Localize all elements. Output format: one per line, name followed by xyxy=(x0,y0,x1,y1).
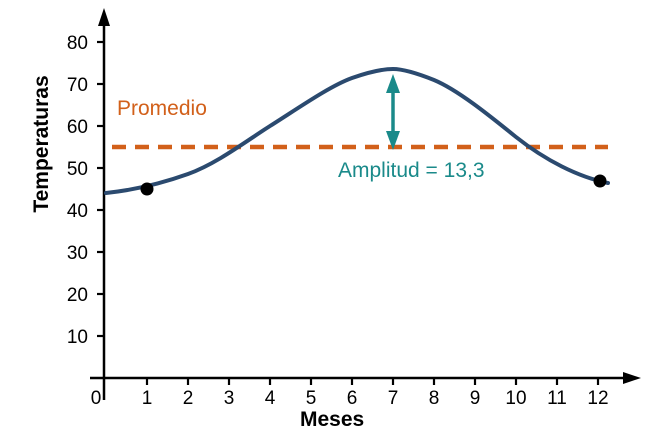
x-tick-label: 4 xyxy=(265,388,276,409)
y-tick-label: 40 xyxy=(67,201,88,222)
x-tick-label-origin: 0 xyxy=(91,388,102,409)
y-tick-label: 60 xyxy=(67,117,88,138)
x-tick-label: 9 xyxy=(470,388,481,409)
x-tick-label: 5 xyxy=(306,388,317,409)
x-tick-label: 2 xyxy=(183,388,194,409)
x-tick-label: 6 xyxy=(347,388,358,409)
chart-container: 10 20 30 40 50 60 70 80 0 1 xyxy=(0,0,650,442)
amplitude-arrow xyxy=(386,74,400,150)
amplitud-label: Amplitud = 13,3 xyxy=(338,159,485,182)
y-tick-label: 80 xyxy=(67,33,88,54)
data-point-marker xyxy=(141,183,154,196)
x-tick-label: 1 xyxy=(142,388,153,409)
x-tick-label: 8 xyxy=(429,388,440,409)
y-tick-labels: 10 20 30 40 50 60 70 80 xyxy=(67,33,88,348)
x-tick-label: 3 xyxy=(224,388,235,409)
x-axis-title: Meses xyxy=(300,408,364,432)
y-tick-label: 20 xyxy=(67,285,88,306)
promedio-label: Promedio xyxy=(117,97,207,120)
x-tick-label: 11 xyxy=(547,388,567,409)
y-axis-title: Temperaturas xyxy=(30,64,54,224)
x-axis xyxy=(90,372,641,384)
x-tick-labels: 0 1 2 3 4 5 6 7 8 9 10 11 12 xyxy=(91,388,609,409)
x-tick-label: 12 xyxy=(587,388,608,409)
y-tick-label: 10 xyxy=(67,327,88,348)
y-axis xyxy=(98,8,110,400)
y-tick-label: 30 xyxy=(67,243,88,264)
x-tick-label: 10 xyxy=(505,388,526,409)
x-tick-label: 7 xyxy=(388,388,399,409)
y-tick-label: 50 xyxy=(67,159,88,180)
y-tick-label: 70 xyxy=(67,75,88,96)
temperature-line-chart: 10 20 30 40 50 60 70 80 0 1 xyxy=(0,0,650,442)
data-point-marker xyxy=(594,175,607,188)
